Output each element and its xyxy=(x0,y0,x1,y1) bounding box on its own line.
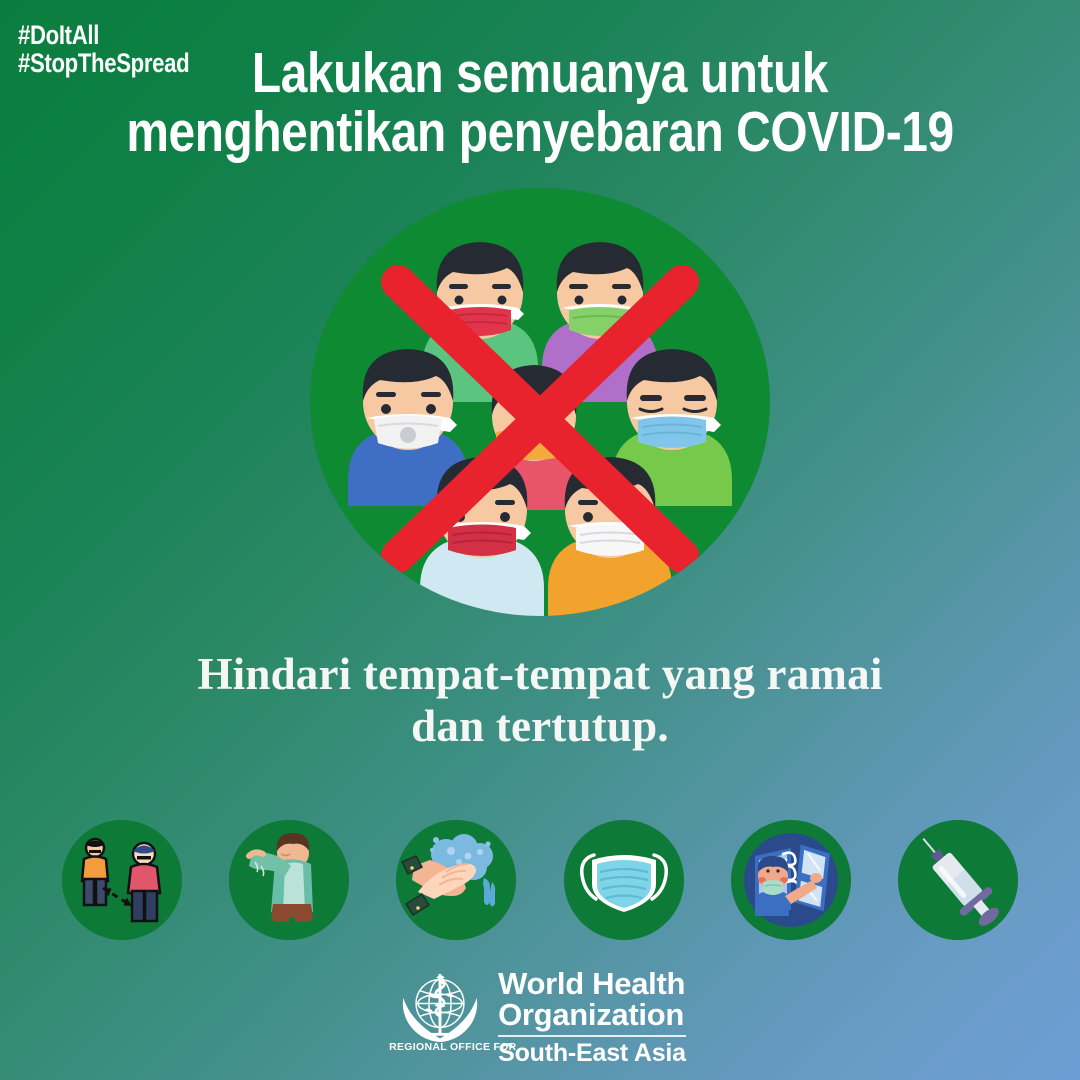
handwashing-icon xyxy=(396,820,516,940)
face-mask-icon xyxy=(564,820,684,940)
subtitle-message: Hindari tempat-tempat yang ramai dan ter… xyxy=(60,648,1020,752)
who-name-line-2: Organization xyxy=(498,999,686,1030)
who-region-name: South-East Asia xyxy=(498,1041,686,1066)
hero-illustration xyxy=(310,188,770,616)
who-logo: World Health Organization REGIONAL OFFIC… xyxy=(0,963,1080,1066)
cough-into-elbow-icon xyxy=(229,820,349,940)
page-title: Lakukan semuanya untuk menghentikan peny… xyxy=(0,44,1080,161)
prevention-icon-row xyxy=(62,820,1018,940)
headline-line-2: menghentikan penyebaran COVID-19 xyxy=(86,103,993,162)
who-divider xyxy=(498,1035,686,1037)
who-text-block: World Health Organization REGIONAL OFFIC… xyxy=(498,963,686,1066)
crowd-of-masked-people-graphic xyxy=(310,188,770,616)
headline-line-1: Lakukan semuanya untuk xyxy=(86,44,993,103)
who-region-row: REGIONAL OFFICE FOR South-East Asia xyxy=(498,1041,686,1066)
subtitle-line-2: dan tertutup. xyxy=(60,700,1020,752)
vaccine-syringe-icon xyxy=(898,820,1018,940)
covid-poster: #DoItAll #StopTheSpread Lakukan semuanya… xyxy=(0,0,1080,1080)
subtitle-line-1: Hindari tempat-tempat yang ramai xyxy=(60,648,1020,700)
ventilation-window-icon xyxy=(731,820,851,940)
who-name-line-1: World Health xyxy=(498,968,686,999)
physical-distancing-icon xyxy=(62,820,182,940)
who-regional-prefix: REGIONAL OFFICE FOR xyxy=(389,1041,516,1057)
